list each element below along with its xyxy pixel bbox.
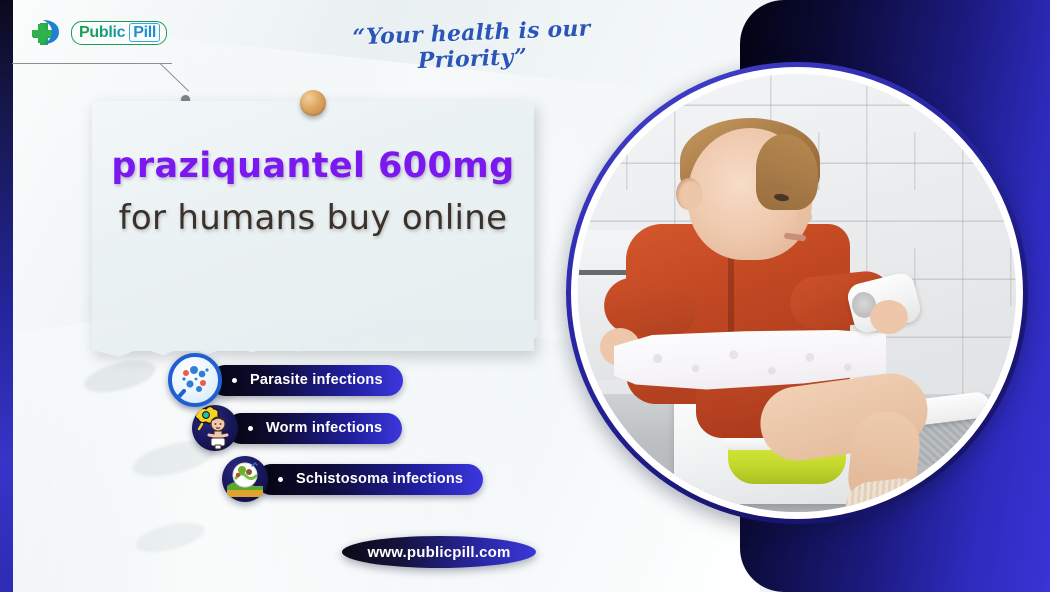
website-url: www.publicpill.com xyxy=(367,544,510,561)
bullet-dot-icon xyxy=(248,426,253,431)
feature-label-worm: Worm infections xyxy=(266,420,382,436)
schistosoma-specimen-icon xyxy=(222,456,268,502)
feature-label-schistosoma: Schistosoma infections xyxy=(296,471,463,487)
feature-item-worm[interactable]: Worm infections xyxy=(192,405,402,451)
promo-banner: Public Pill “Your health is our Priority… xyxy=(0,0,1050,592)
brand-logo-wordmark: Public Pill xyxy=(71,21,167,45)
brand-name-pill: Pill xyxy=(129,23,160,42)
child-hand-right xyxy=(870,300,908,334)
hero-photo-ring-outer xyxy=(566,62,1028,524)
connector-line-horizontal xyxy=(12,63,172,64)
child-nose xyxy=(796,210,812,224)
hero-photo-ring-white xyxy=(571,67,1023,519)
headline-secondary: for humans buy online xyxy=(92,198,534,238)
brand-name-public: Public xyxy=(79,24,129,42)
feature-pill-parasite[interactable]: Parasite infections xyxy=(210,365,403,396)
feature-item-schistosoma[interactable]: Schistosoma infections xyxy=(222,456,483,502)
left-edge-accent-strip xyxy=(0,0,13,592)
gold-pin-icon xyxy=(300,90,326,116)
feature-pill-worm[interactable]: Worm infections xyxy=(226,413,402,444)
medical-cross-p-icon xyxy=(30,17,64,49)
feature-pill-schistosoma[interactable]: Schistosoma infections xyxy=(256,464,483,495)
headline-primary: praziquantel 600mg xyxy=(92,146,534,186)
feature-label-parasite: Parasite infections xyxy=(250,372,383,388)
bullet-dot-icon xyxy=(232,378,237,383)
website-badge[interactable]: www.publicpill.com xyxy=(342,536,536,568)
magnifier-parasite-icon xyxy=(168,353,222,407)
feature-item-parasite[interactable]: Parasite infections xyxy=(168,353,403,407)
toddler-on-potty-photo xyxy=(578,74,1016,512)
bullet-dot-icon xyxy=(278,477,283,482)
brand-logo[interactable]: Public Pill xyxy=(30,17,167,49)
baby-potty-germ-icon xyxy=(192,405,238,451)
child-ear xyxy=(676,178,702,210)
